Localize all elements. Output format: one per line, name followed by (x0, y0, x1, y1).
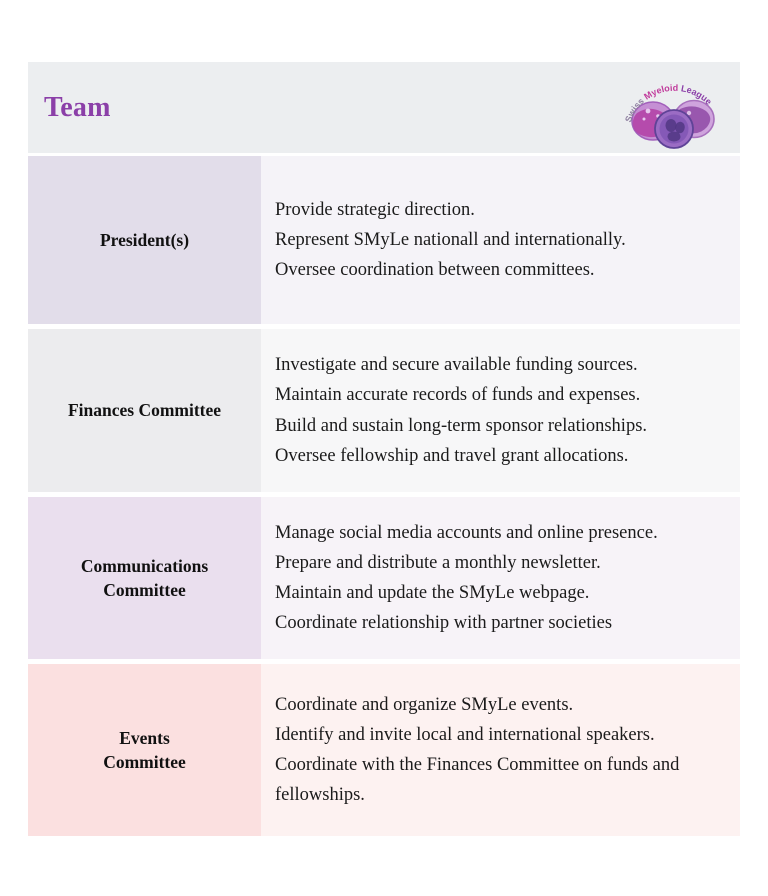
table-row: Finances Committee Investigate and secur… (28, 329, 740, 492)
desc-line: Oversee coordination between committees. (275, 255, 726, 285)
desc-line: Coordinate with the Finances Committee o… (275, 750, 726, 810)
row-desc-communications: Manage social media accounts and online … (261, 497, 740, 659)
desc-line: Oversee fellowship and travel grant allo… (275, 441, 726, 471)
table-row: Communications Committee Manage social m… (28, 497, 740, 659)
desc-line: Provide strategic direction. (275, 195, 726, 225)
row-label-line: President(s) (38, 228, 251, 252)
row-label-finances: Finances Committee (28, 329, 261, 492)
desc-line: Build and sustain long-term sponsor rela… (275, 411, 726, 441)
row-label-events: Events Committee (28, 664, 261, 836)
desc-line: Investigate and secure available funding… (275, 350, 726, 380)
row-desc-events: Coordinate and organize SMyLe events. Id… (261, 664, 740, 836)
desc-line: Identify and invite local and internatio… (275, 720, 726, 750)
desc-line: Prepare and distribute a monthly newslet… (275, 548, 726, 578)
row-desc-president: Provide strategic direction. Represent S… (261, 156, 740, 324)
row-label-president: President(s) (28, 156, 261, 324)
table-header-cell: Team (28, 62, 740, 153)
desc-line: Coordinate and organize SMyLe events. (275, 690, 726, 720)
slide-root: Team (0, 0, 768, 896)
table-header-row: Team (28, 62, 740, 153)
row-label-line: Communications (38, 554, 251, 578)
table-row: President(s) Provide strategic direction… (28, 156, 740, 324)
logo-text-myeloid: Myeloid (642, 82, 681, 101)
row-desc-finances: Investigate and secure available funding… (261, 329, 740, 492)
desc-line: Maintain and update the SMyLe webpage. (275, 578, 726, 608)
desc-line: Coordinate relationship with partner soc… (275, 608, 726, 638)
row-label-line: Finances Committee (38, 398, 251, 422)
row-label-line: Committee (38, 578, 251, 602)
desc-line: Maintain accurate records of funds and e… (275, 380, 726, 410)
row-label-line: Committee (38, 750, 251, 774)
table-row: Events Committee Coordinate and organize… (28, 664, 740, 836)
row-label-communications: Communications Committee (28, 497, 261, 659)
team-table: Team (28, 62, 740, 836)
desc-line: Represent SMyLe nationall and internatio… (275, 225, 726, 255)
page-title: Team (42, 94, 111, 122)
desc-line: Manage social media accounts and online … (275, 518, 726, 548)
swiss-myeloid-league-logo-icon: Swiss Myeloid League (620, 67, 724, 149)
row-label-line: Events (38, 726, 251, 750)
